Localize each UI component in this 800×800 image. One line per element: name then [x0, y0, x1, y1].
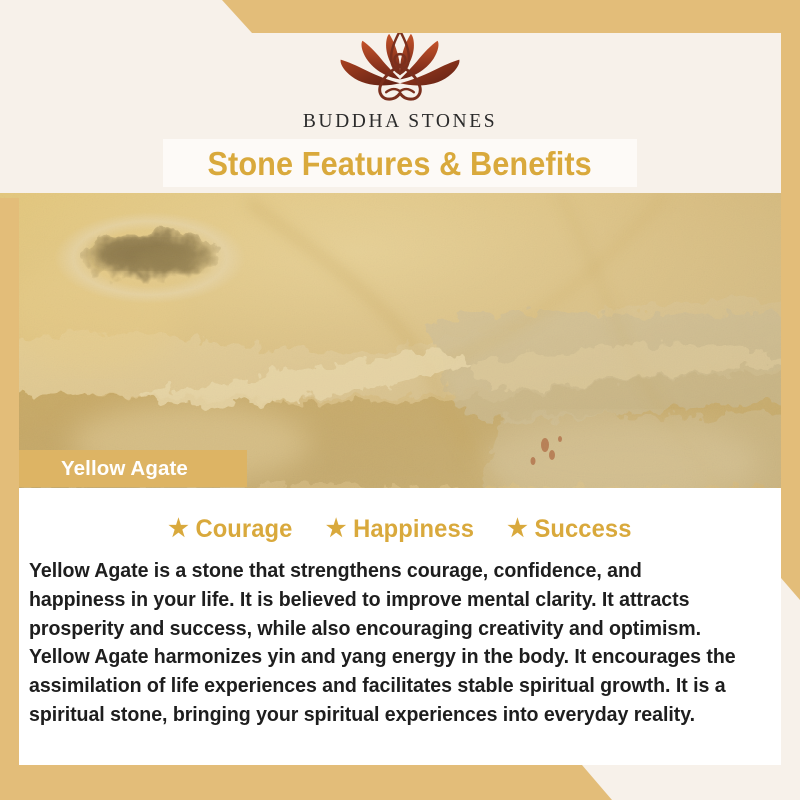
benefit-label: Courage [196, 515, 293, 544]
star-icon: ★ [326, 517, 347, 541]
benefits-row: ★ Courage ★ Happiness ★ Success [19, 512, 781, 546]
content-panel: ★ Courage ★ Happiness ★ Success Yellow A… [19, 488, 781, 765]
benefit-item-success: ★ Success [507, 515, 631, 544]
benefit-item-courage: ★ Courage [169, 515, 293, 544]
benefit-label: Happiness [353, 515, 474, 544]
stone-name-label: Yellow Agate [19, 450, 247, 487]
product-infographic-poster: BUDDHA STONES Stone Features & Benefits [0, 0, 800, 800]
star-icon: ★ [507, 517, 528, 541]
stone-name-text: Yellow Agate [19, 457, 188, 481]
frame-right-gold-bar [781, 0, 800, 600]
benefit-label: Success [534, 515, 631, 544]
brand-name: BUDDHA STONES [0, 111, 800, 133]
brand-logo-block: BUDDHA STONES [0, 24, 800, 133]
page-title: Stone Features & Benefits [208, 147, 592, 180]
title-banner: Stone Features & Benefits [163, 139, 637, 187]
stone-description: Yellow Agate is a stone that strengthens… [29, 557, 743, 730]
benefit-item-happiness: ★ Happiness [326, 515, 474, 544]
frame-bottom-gold-bar [0, 765, 800, 800]
lotus-meditation-figure-icon [325, 24, 475, 108]
frame-left-gold-bar [0, 198, 19, 800]
yellow-agate-stone-photo [0, 193, 800, 488]
star-icon: ★ [169, 517, 190, 541]
